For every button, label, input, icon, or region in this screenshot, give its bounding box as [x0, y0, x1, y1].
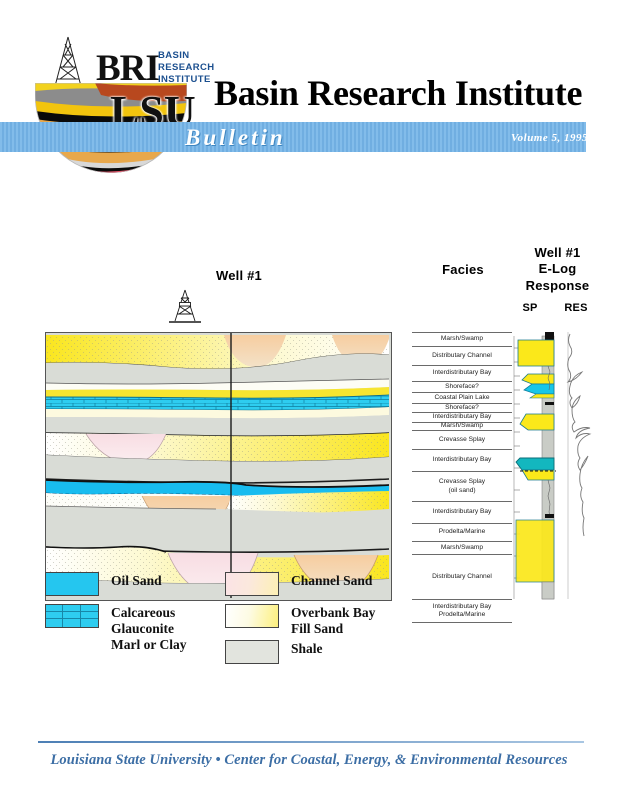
- page-header: BRI BASIN RESEARCH INSTITUTE: [0, 0, 618, 175]
- facies-label: Crevasse Splay: [439, 478, 485, 486]
- map-legend: Oil SandCalcareous Glauconite Marl or Cl…: [45, 568, 400, 668]
- legend-label: Oil Sand: [111, 572, 162, 589]
- facies-row: Interdistributary Bay: [412, 449, 512, 471]
- legend-item: Oil Sand: [45, 572, 162, 596]
- legend-swatch: [225, 572, 279, 596]
- facies-label: Shoreface?: [445, 383, 479, 391]
- facies-label: Coastal Plain Lake: [435, 394, 490, 402]
- logo-sub-line2: RESEARCH: [158, 62, 215, 74]
- elog-head-line3: Response: [505, 278, 610, 294]
- page-title: Basin Research Institute: [214, 72, 582, 114]
- facies-row: Shoreface?: [412, 381, 512, 392]
- facies-table: Marsh/SwampDistributary ChannelInterdist…: [412, 332, 512, 599]
- facies-label: Marsh/Swamp: [441, 335, 483, 343]
- elog-head-line1: Well #1: [505, 245, 610, 261]
- volume-label: Volume 5, 1995: [511, 132, 588, 144]
- facies-label: Interdistributary Bay: [433, 413, 492, 421]
- elog-panel: [512, 328, 610, 603]
- facies-row: Marsh/Swamp: [412, 332, 512, 346]
- facies-label: Prodelta/Marine: [439, 528, 486, 536]
- facies-row: Marsh/Swamp: [412, 541, 512, 554]
- facies-row: Crevasse Splay: [412, 430, 512, 449]
- facies-row: Marsh/Swamp: [412, 422, 512, 430]
- legend-swatch: [225, 640, 279, 664]
- legend-label: Overbank Bay Fill Sand: [291, 604, 375, 637]
- facies-row: Interdistributary Bay: [412, 412, 512, 422]
- legend-label: Shale: [291, 640, 323, 657]
- facies-label: Distributary Channel: [432, 573, 492, 581]
- footer-divider: [38, 741, 584, 743]
- logo-abbrev: BRI: [96, 50, 159, 87]
- facies-row: Interdistributary Bay: [412, 501, 512, 523]
- facies-row: Shoreface?: [412, 403, 512, 412]
- legend-item: Overbank Bay Fill Sand: [225, 604, 375, 637]
- well-column-label: Well #1: [180, 268, 298, 283]
- res-track-label: RES: [556, 302, 596, 314]
- facies-label: Distributary Channel: [432, 352, 492, 360]
- legend-label: Channel Sand: [291, 572, 372, 589]
- oil-derrick-icon: [168, 288, 202, 328]
- facies-label: Interdistributary Bay: [433, 456, 492, 464]
- footer-text: Louisiana State University • Center for …: [0, 752, 618, 769]
- legend-swatch: [45, 604, 99, 628]
- facies-label: Shoreface?: [445, 404, 479, 412]
- facies-label: Marsh/Swamp: [441, 544, 483, 552]
- facies-row: Coastal Plain Lake: [412, 392, 512, 403]
- facies-row: Interdistributary BayProdelta/Marine: [412, 599, 512, 623]
- facies-label: Interdistributary Bay: [433, 603, 492, 611]
- facies-label: (oil sand): [448, 487, 475, 495]
- facies-row: Prodelta/Marine: [412, 523, 512, 541]
- facies-row: Crevasse Splay(oil sand): [412, 471, 512, 501]
- cross-section-diagram: [45, 332, 392, 601]
- legend-swatch: [45, 572, 99, 596]
- legend-item: Channel Sand: [225, 572, 372, 596]
- facies-row: Distributary Channel: [412, 554, 512, 599]
- facies-label: Prodelta/Marine: [439, 611, 486, 619]
- facies-column-label: Facies: [420, 262, 506, 277]
- elog-column-label: Well #1 E-Log Response: [505, 245, 610, 294]
- banner-title: Bulletin: [185, 125, 286, 151]
- facies-row: Interdistributary Bay: [412, 365, 512, 381]
- facies-label: Crevasse Splay: [439, 436, 485, 444]
- legend-swatch: [225, 604, 279, 628]
- facies-label: Interdistributary Bay: [433, 508, 492, 516]
- legend-label: Calcareous Glauconite Marl or Clay: [111, 604, 186, 653]
- facies-row: Distributary Channel: [412, 346, 512, 365]
- legend-item: Shale: [225, 640, 323, 664]
- legend-item: Calcareous Glauconite Marl or Clay: [45, 604, 186, 653]
- sp-track-label: SP: [512, 302, 548, 314]
- logo-subtitle: BASIN RESEARCH INSTITUTE: [158, 50, 215, 86]
- elog-head-line2: E-Log: [505, 261, 610, 277]
- facies-label: Interdistributary Bay: [433, 369, 492, 377]
- bulletin-banner: [0, 122, 586, 152]
- logo-sub-line1: BASIN: [158, 50, 215, 62]
